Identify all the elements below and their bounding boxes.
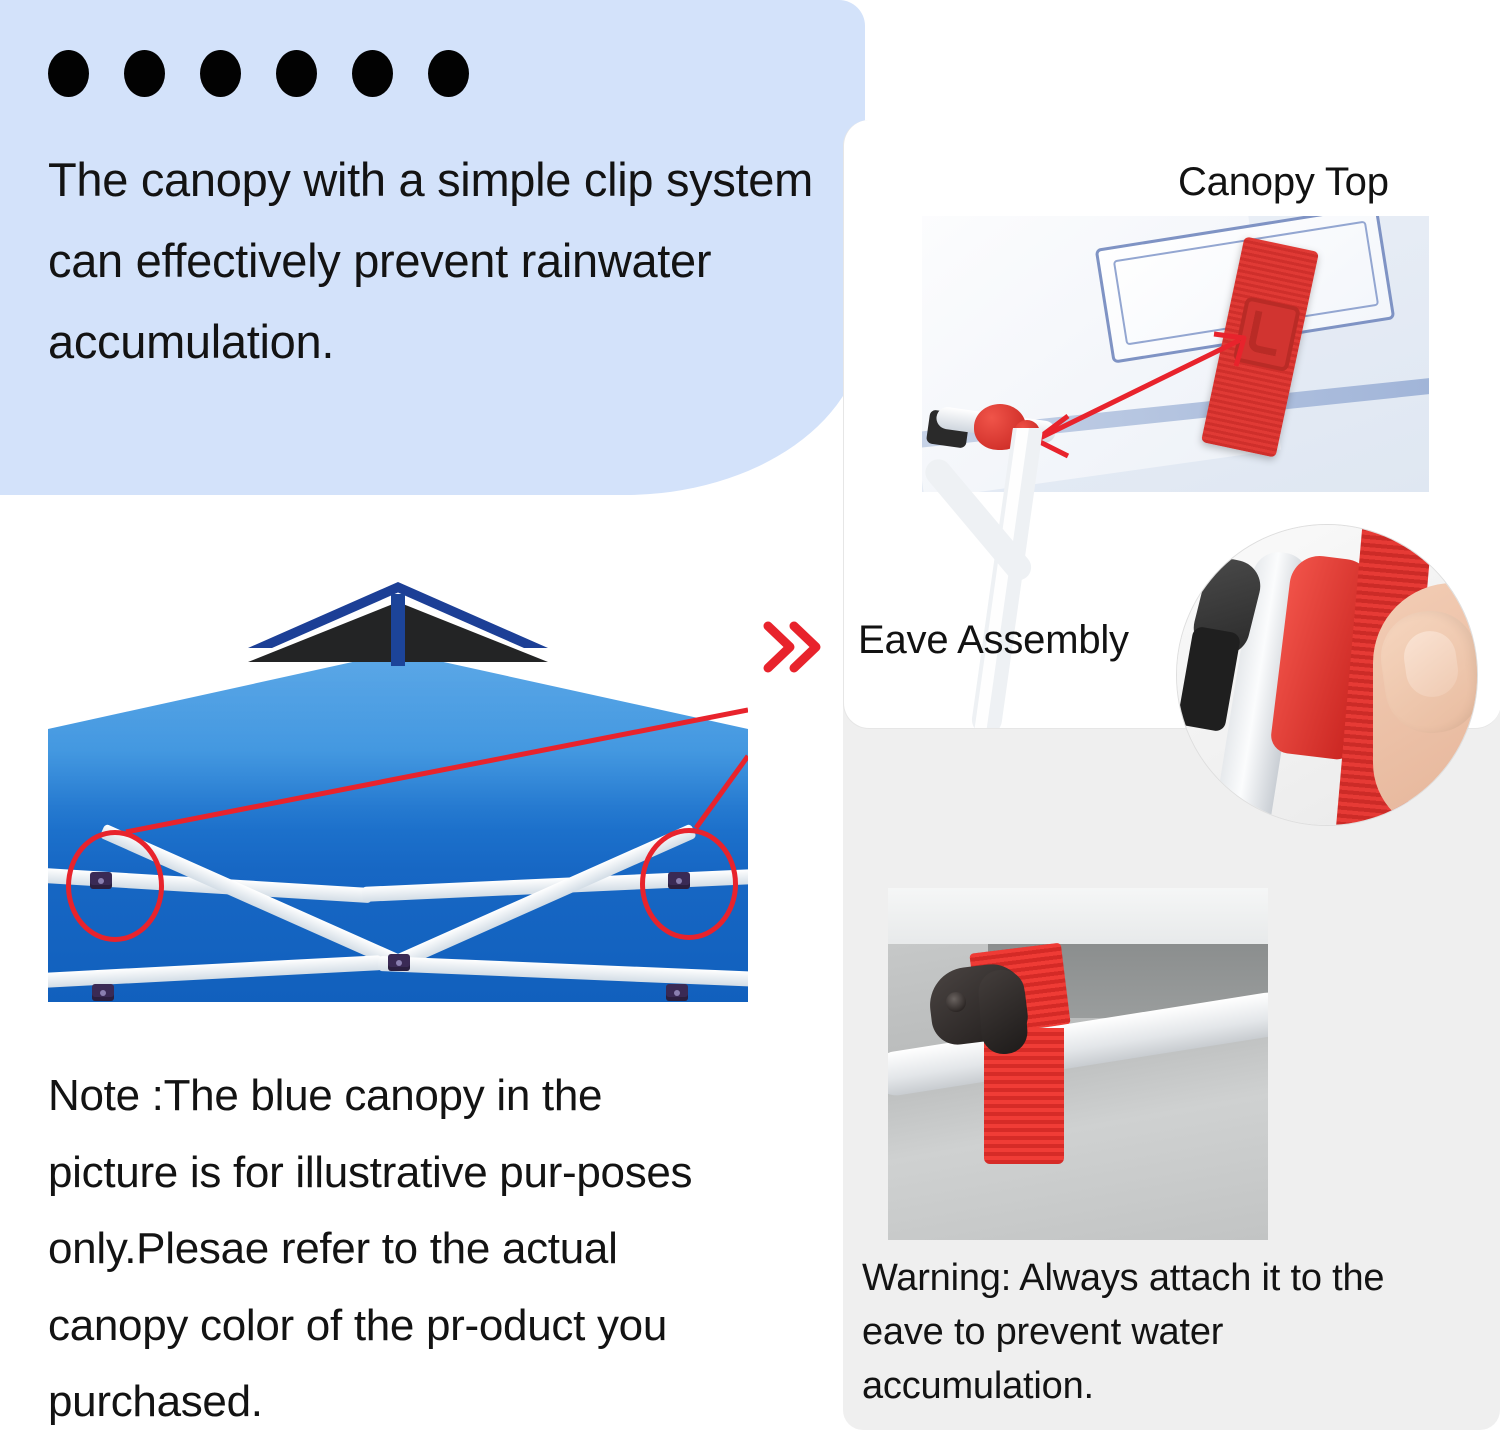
bullet-dot-icon	[276, 50, 317, 97]
bullet-dot-icon	[352, 50, 393, 97]
callout-bubble: The canopy with a simple clip system can…	[0, 0, 865, 495]
label-canopy-top: Canopy Top	[1178, 160, 1389, 205]
note-text: Note :The blue canopy in the picture is …	[48, 1058, 728, 1441]
clip-screw	[946, 992, 966, 1012]
callout-headline: The canopy with a simple clip system can…	[48, 140, 848, 382]
bullet-dot-icon	[200, 50, 241, 97]
hand-attaching-strap-inset	[1176, 524, 1478, 826]
warning-text: Warning: Always attach it to the eave to…	[862, 1252, 1442, 1414]
label-eave-assembly: Eave Assembly	[858, 618, 1129, 663]
bullet-dot-icon	[428, 50, 469, 97]
bullet-dot-row	[48, 50, 469, 97]
infographic-page: The canopy with a simple clip system can…	[0, 0, 1500, 1442]
blue-canopy-underside-photo	[48, 560, 748, 1002]
double-chevron-right-icon	[762, 618, 824, 676]
bullet-dot-icon	[48, 50, 89, 97]
leader-lines	[48, 560, 748, 1002]
bullet-dot-icon	[124, 50, 165, 97]
eave-strap-clip-photo	[888, 888, 1268, 1240]
eave-pole-graphic	[900, 428, 1160, 728]
